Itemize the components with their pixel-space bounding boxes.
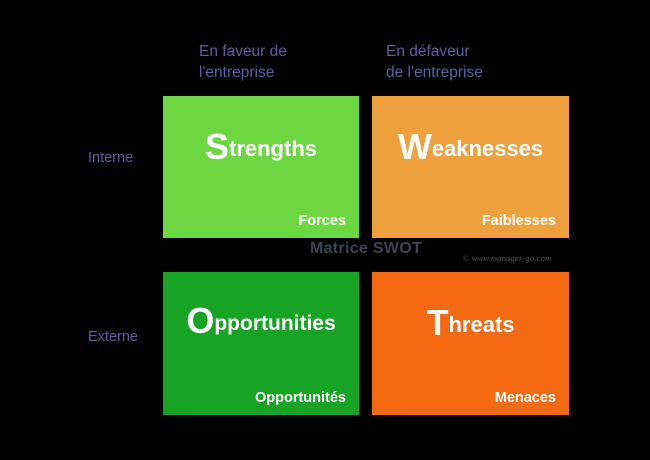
quadrant-strengths-sublabel: Forces [298, 213, 346, 229]
quadrant-weaknesses[interactable]: Weaknesses Faiblesses [372, 96, 569, 238]
quadrant-opportunities-title: Opportunities [163, 306, 359, 339]
quadrant-strengths-rest: trengths [229, 136, 317, 161]
row-label-internal: Interne [88, 150, 168, 166]
quadrant-threats-initial: T [426, 302, 448, 343]
swot-diagram-canvas: En faveur de l'entreprise En défaveur de… [0, 0, 650, 460]
quadrant-threats[interactable]: Threats Menaces [372, 272, 569, 415]
quadrant-opportunities-rest: pportunities [214, 312, 335, 335]
quadrant-strengths-title: Strengths [163, 132, 359, 164]
quadrant-weaknesses-rest: eaknesses [432, 136, 543, 161]
column-header-disfavor: En défaveur de l'entreprise [386, 41, 566, 83]
quadrant-strengths-initial: S [205, 126, 229, 167]
quadrant-weaknesses-initial: W [398, 126, 432, 167]
quadrant-opportunities-sublabel: Opportunités [255, 390, 346, 406]
copyright-icon: © [463, 254, 469, 263]
row-label-external: Externe [88, 329, 168, 345]
quadrant-threats-sublabel: Menaces [495, 390, 556, 406]
column-header-favor: En faveur de l'entreprise [199, 41, 369, 83]
quadrant-weaknesses-sublabel: Faiblesses [482, 213, 556, 229]
quadrant-opportunities-initial: O [186, 300, 214, 341]
quadrant-threats-title: Threats [372, 308, 569, 340]
quadrant-opportunities[interactable]: Opportunities Opportunités [163, 272, 359, 415]
quadrant-weaknesses-title: Weaknesses [372, 132, 569, 164]
quadrant-threats-rest: hreats [448, 312, 514, 337]
watermark-text: www.manager-go.com [472, 253, 552, 263]
quadrant-strengths[interactable]: Strengths Forces [163, 96, 359, 238]
watermark: © www.manager-go.com [463, 253, 551, 263]
